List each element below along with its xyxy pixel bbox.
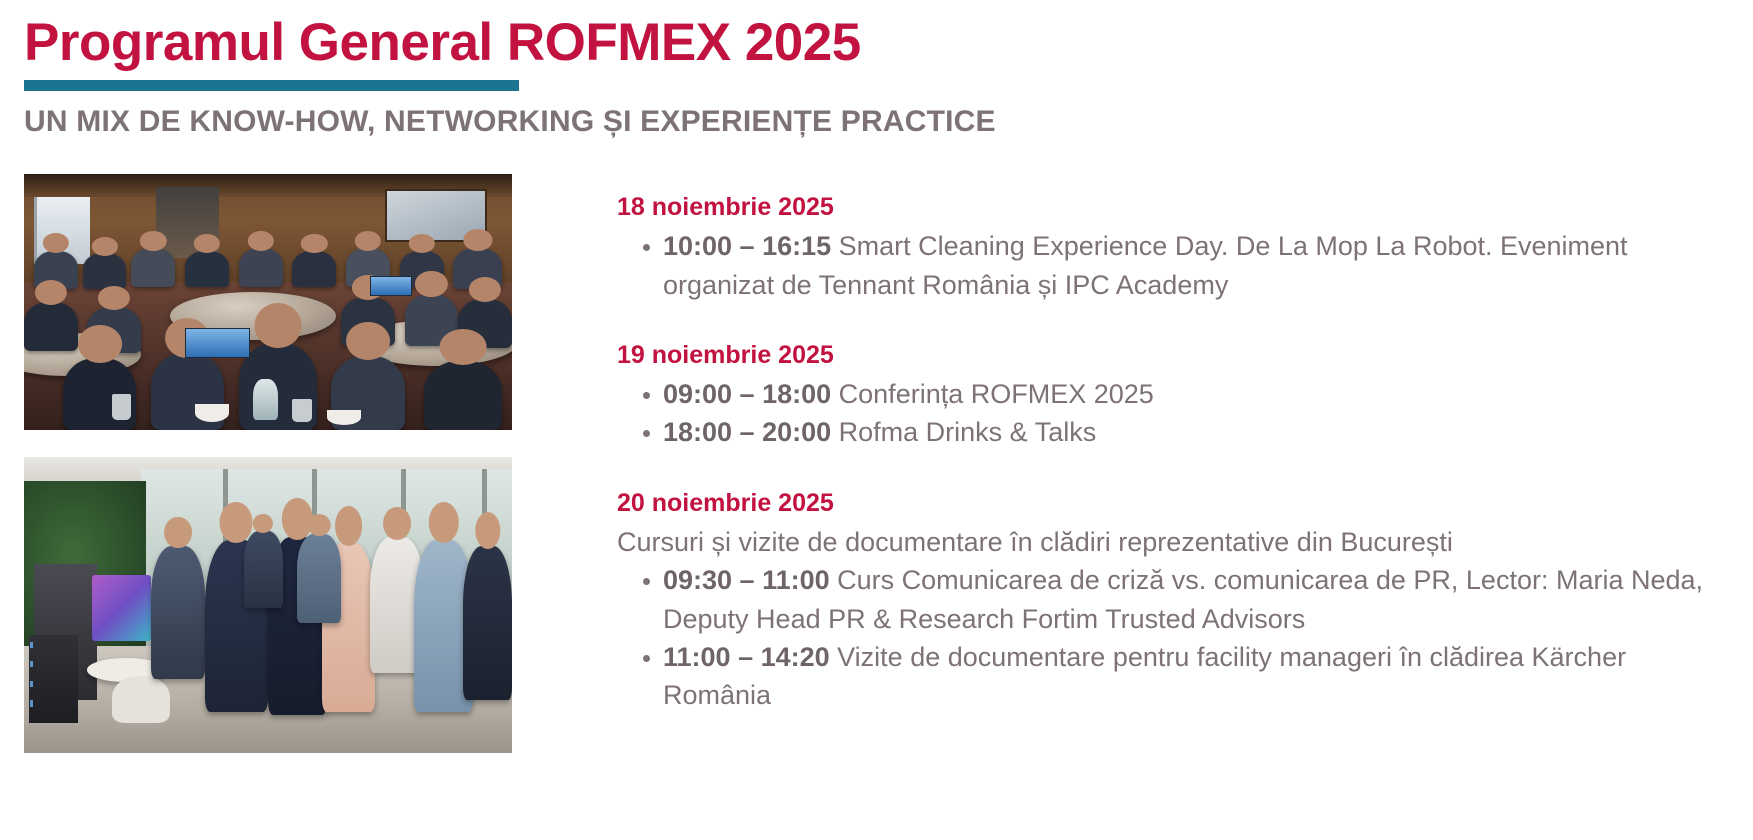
attendee xyxy=(24,302,78,351)
attendee xyxy=(131,248,175,286)
brochure xyxy=(30,681,34,687)
schedule-item-time: 10:00 – 16:15 xyxy=(663,231,831,261)
schedule-item-text: Rofma Drinks & Talks xyxy=(839,417,1097,447)
brochure-rack xyxy=(29,635,78,724)
bullet-icon xyxy=(643,578,650,585)
schedule-item: 18:00 – 20:00 Rofma Drinks & Talks xyxy=(617,413,1737,451)
day-block: 19 noiembrie 2025 09:00 – 18:00 Conferin… xyxy=(617,340,1737,452)
attendee xyxy=(151,546,205,679)
schedule-item-time: 18:00 – 20:00 xyxy=(663,417,831,447)
header: Programul General ROFMEX 2025 UN MIX DE … xyxy=(24,14,1724,139)
schedule-item: 10:00 – 16:15 Smart Cleaning Experience … xyxy=(617,227,1737,304)
laptop xyxy=(185,328,250,358)
schedule-item-time: 09:30 – 11:00 xyxy=(663,565,830,595)
attendee xyxy=(424,361,502,430)
slide-page: Programul General ROFMEX 2025 UN MIX DE … xyxy=(0,0,1753,840)
day-items: 09:00 – 18:00 Conferința ROFMEX 2025 18:… xyxy=(617,375,1737,452)
page-title: Programul General ROFMEX 2025 xyxy=(24,14,1724,71)
day-date-heading: 20 noiembrie 2025 xyxy=(617,488,1737,519)
attendee xyxy=(83,253,127,289)
water-glass xyxy=(112,394,132,420)
page-subtitle: UN MIX DE KNOW-HOW, NETWORKING ȘI EXPERI… xyxy=(24,105,1724,139)
illuminated-display xyxy=(92,575,151,640)
schedule-item-text: Conferința ROFMEX 2025 xyxy=(839,379,1154,409)
photo-column xyxy=(24,174,512,753)
water-glass xyxy=(292,399,312,422)
attendee xyxy=(292,251,336,287)
attendee xyxy=(244,531,283,608)
schedule-item-time: 11:00 – 14:20 xyxy=(663,642,830,672)
brochure xyxy=(30,661,34,667)
accent-bar xyxy=(24,80,519,91)
conference-hall-photo xyxy=(24,174,512,430)
schedule-list: 18 noiembrie 2025 10:00 – 16:15 Smart Cl… xyxy=(617,192,1737,715)
day-note: Cursuri și vizite de documentare în clăd… xyxy=(617,523,1737,561)
day-date-heading: 19 noiembrie 2025 xyxy=(617,340,1737,371)
day-block: 18 noiembrie 2025 10:00 – 16:15 Smart Cl… xyxy=(617,192,1737,304)
laptop xyxy=(370,276,411,296)
networking-foyer-photo xyxy=(24,457,512,753)
bullet-icon xyxy=(643,392,650,399)
attendee xyxy=(239,248,283,286)
spacer xyxy=(617,472,1737,488)
lounge-chair xyxy=(112,676,171,723)
coffee-cup xyxy=(327,410,361,425)
attendee xyxy=(185,251,229,287)
bullet-icon xyxy=(643,430,650,437)
spacer xyxy=(617,324,1737,340)
schedule-item: 09:30 – 11:00 Curs Comunicarea de criză … xyxy=(617,561,1737,638)
brochure xyxy=(30,642,34,648)
day-items: 10:00 – 16:15 Smart Cleaning Experience … xyxy=(617,227,1737,304)
day-items: 09:30 – 11:00 Curs Comunicarea de criză … xyxy=(617,561,1737,714)
schedule-item-time: 09:00 – 18:00 xyxy=(663,379,831,409)
day-date-heading: 18 noiembrie 2025 xyxy=(617,192,1737,223)
day-block: 20 noiembrie 2025 Cursuri și vizite de d… xyxy=(617,488,1737,715)
bullet-icon xyxy=(643,244,650,251)
attendee xyxy=(463,546,512,700)
water-bottle xyxy=(253,379,277,420)
attendee xyxy=(297,534,341,623)
brochure xyxy=(30,700,34,706)
bullet-icon xyxy=(643,655,650,662)
schedule-item: 11:00 – 14:20 Vizite de documentare pent… xyxy=(617,638,1737,715)
schedule-item: 09:00 – 18:00 Conferința ROFMEX 2025 xyxy=(617,375,1737,413)
